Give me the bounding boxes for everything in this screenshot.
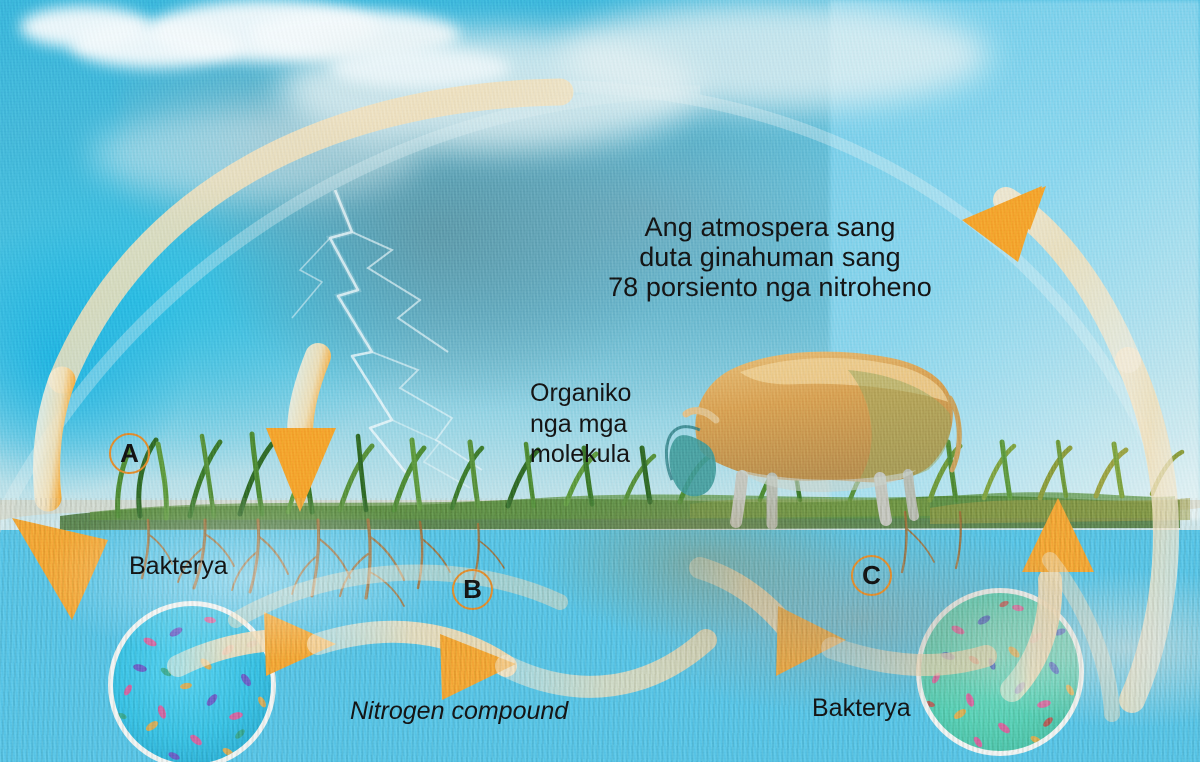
headline-line-3: 78 porsiento nga nitroheno [560,272,980,302]
bacteria-label-left: Bakterya [129,552,228,580]
nitrogen-cycle-illustration: Ang atmospera sang duta ginahuman sang 7… [0,0,1200,762]
soil-texture [0,498,1200,762]
step-badge-b: B [452,569,493,610]
bacteria-circle-right [916,588,1084,756]
bacteria-circle-left [108,601,276,762]
organic-molecules-label: Organiko nga mga molekula [530,378,730,470]
headline-line-2: duta ginahuman sang [560,242,980,272]
bacteria-label-right: Bakterya [812,694,911,722]
organic-line-3: molekula [530,439,730,470]
step-badge-a: A [109,433,150,474]
organic-line-1: Organiko [530,378,730,409]
bacteria-specks-left [116,616,267,761]
organic-line-2: nga mga [530,409,730,440]
page-title: Ang atmospera sang duta ginahuman sang 7… [560,212,980,303]
cloud-haze-3 [90,110,420,200]
arrow-bacteria-to-nitrogen [178,612,336,676]
nitrogen-compound-label: Nitrogen compound [350,697,568,725]
bacteria-specks-right [924,600,1075,749]
arrow-nitrogen-to-plant [318,632,706,700]
cloud-5 [330,48,510,88]
arc-band-decorations [236,560,1112,714]
cloud-haze-2 [560,0,990,110]
step-badge-c: C [851,555,892,596]
headline-line-1: Ang atmospera sang [560,212,980,242]
arrow-organic-to-bacteria [700,568,986,676]
